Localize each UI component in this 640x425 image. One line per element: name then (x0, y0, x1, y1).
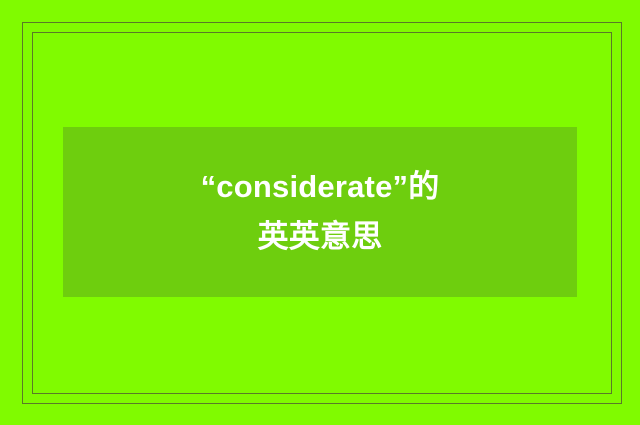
page-title: “considerate”的英英意思 (190, 162, 450, 262)
page-canvas: “considerate”的英英意思 (0, 0, 640, 425)
title-panel: “considerate”的英英意思 (63, 127, 577, 297)
